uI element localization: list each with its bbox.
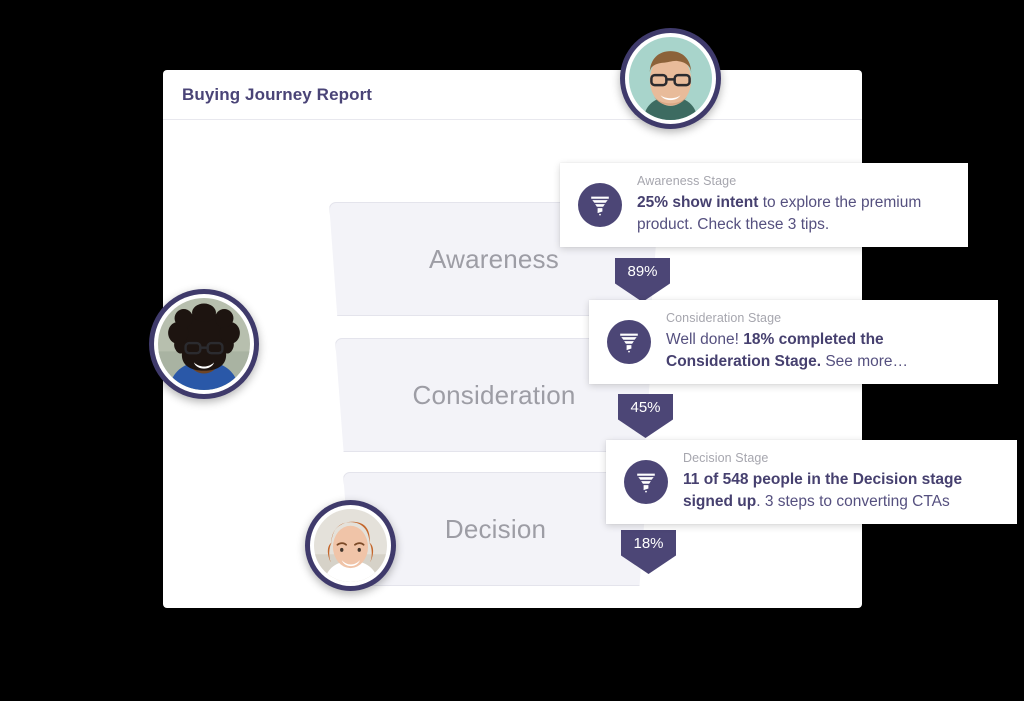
funnel-icon <box>578 183 622 227</box>
avatar-woman-curly[interactable] <box>149 289 259 399</box>
funnel-icon <box>624 460 668 504</box>
tooltip-text: Decision Stage 11 of 548 people in the D… <box>683 451 1017 513</box>
avatar-ring <box>310 505 391 586</box>
tooltip-message: Well done! 18% completed the Considerati… <box>666 329 982 373</box>
tooltip-text: Awareness Stage 25% show intent to explo… <box>637 174 968 236</box>
avatar-photo <box>314 509 387 582</box>
avatar-woman-redhair[interactable] <box>305 500 396 591</box>
tooltip-stage-label: Awareness Stage <box>637 174 952 188</box>
insight-tooltip-decision[interactable]: Decision Stage 11 of 548 people in the D… <box>606 440 1017 524</box>
tooltip-message: 25% show intent to explore the premium p… <box>637 192 952 236</box>
avatar-photo <box>158 298 250 390</box>
avatar-photo <box>629 37 712 120</box>
tooltip-stage-label: Decision Stage <box>683 451 1001 465</box>
avatar-ring <box>625 33 716 124</box>
avatar-ring <box>154 294 254 394</box>
funnel-icon <box>607 320 651 364</box>
tooltip-stage-label: Consideration Stage <box>666 311 982 325</box>
avatar-man-glasses[interactable] <box>620 28 721 129</box>
insight-tooltip-consideration[interactable]: Consideration Stage Well done! 18% compl… <box>589 300 998 384</box>
page-title: Buying Journey Report <box>182 85 372 105</box>
tooltip-message: 11 of 548 people in the Decision stage s… <box>683 469 1001 513</box>
card-header: Buying Journey Report <box>163 70 862 120</box>
tooltip-text: Consideration Stage Well done! 18% compl… <box>666 311 998 373</box>
insight-tooltip-awareness[interactable]: Awareness Stage 25% show intent to explo… <box>560 163 968 247</box>
